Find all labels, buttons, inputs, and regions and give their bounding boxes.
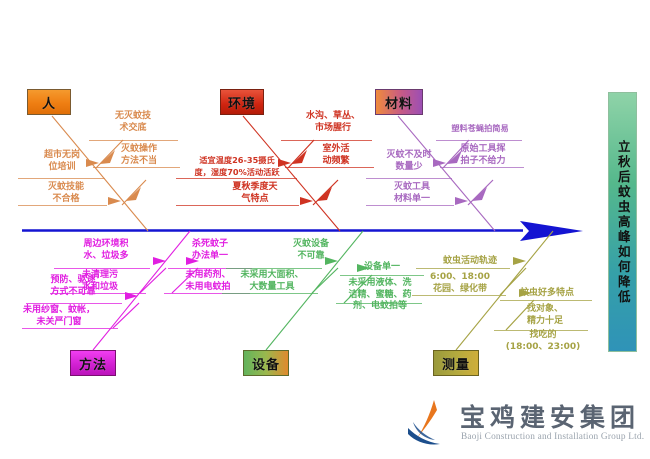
tip-people-2	[108, 197, 121, 205]
cause-measurement-3-detail-line1: 找吃的	[529, 330, 556, 340]
cause-equipment-1-detail-line1: 未采用大面积、	[240, 270, 303, 280]
cause-environment-1-detail: 室外活 动频繁	[296, 144, 376, 167]
cause-method-2-title-line2: 方式不可靠	[50, 287, 95, 297]
cause-people-2-title-line2: 位培训	[48, 162, 75, 172]
cause-equipment-2-title-line1: 设备单一	[364, 262, 400, 272]
cause-measurement-1-title: 蚊虫活动轨迹	[428, 256, 512, 268]
logo-swoosh-blue	[408, 428, 440, 445]
cause-environment-2-title-line2: 度，湿度70%活动活跃	[194, 167, 279, 177]
twig-people-2	[122, 180, 146, 205]
cause-environment-1-detail-line2: 动频繁	[322, 156, 349, 166]
cause-people-2-title-line1: 超市无岗	[44, 150, 80, 160]
spine-arrowhead	[520, 221, 583, 241]
cause-people-2-detail-line1: 灭蚊技能	[48, 182, 84, 192]
cause-material-2-detail-line2: 材料单一	[394, 194, 430, 204]
cause-method-1-title-line2: 水、垃圾多	[83, 251, 128, 261]
cause-measurement-1-title-line1: 蚊虫活动轨迹	[443, 256, 497, 266]
spine-group	[22, 221, 583, 241]
category-label-material: 材料	[385, 93, 413, 112]
cause-measurement-2-detail: 找对象、 精力十足	[502, 304, 588, 327]
cause-equipment-2-detail: 未采用液体、洗 洁精、蜜糖、药 剂、电蚊拍等	[336, 278, 424, 313]
tip-mea-1	[513, 257, 526, 265]
cause-material-2-title: 灭蚊不及时 数量少	[366, 150, 452, 173]
category-label-people: 人	[42, 93, 56, 112]
cause-method-2-detail: 未用纱窗、蚊帐， 未关严门窗	[2, 305, 116, 328]
cause-equipment-1-title-line1: 灭蚊设备	[293, 239, 329, 249]
cause-environment-2-detail: 夏秋季度天 气特点	[210, 182, 300, 205]
category-label-method: 方法	[79, 354, 107, 373]
cause-people-1-title-line1: 无灭蚊技	[115, 111, 151, 121]
cause-material-1-detail-line2: 拍子不给力	[460, 156, 505, 166]
category-box-environment[interactable]: 环境	[220, 89, 264, 115]
cause-material-1-detail: 原始工具挥 拍子不给力	[440, 144, 526, 167]
company-name-cn: 宝鸡建安集团	[460, 398, 640, 434]
cause-environment-2-detail-line2: 气特点	[241, 194, 268, 204]
category-box-measurement[interactable]: 测量	[433, 350, 479, 376]
cause-equipment-2-detail-line2: 洁精、蜜糖、药	[348, 290, 411, 300]
cause-material-2-title-line2: 数量少	[395, 162, 422, 172]
cause-people-1-detail-line2: 方法不当	[121, 156, 157, 166]
category-label-environment: 环境	[228, 93, 256, 112]
cause-environment-1-title-line1: 水沟、草丛、	[306, 111, 360, 121]
problem-statement-text: 立秋后蚊虫高峰如何降低	[616, 140, 629, 305]
cause-material-2-title-line1: 灭蚊不及时	[386, 150, 431, 160]
cause-people-2-detail: 灭蚊技能 不合格	[24, 182, 108, 205]
cause-environment-1-title-line2: 市场腥行	[315, 123, 351, 133]
fishbone-diagram-canvas: 人 环境 材料 方法 设备 测量 立秋后蚊虫高峰如何降低 无灭蚊技 术交底 灭蚊…	[0, 0, 650, 459]
cause-measurement-2-title: 蚊虫好多特点	[504, 288, 590, 300]
cause-method-3-title-line1: 杀死蚊子	[192, 239, 228, 249]
cause-measurement-1-detail-line1: 6:00、18:00	[430, 272, 490, 282]
cause-method-3-title-line2: 办法单一	[192, 251, 228, 261]
cause-method-2-title: 预防、驱逐 方式不可靠	[28, 275, 118, 298]
cause-measurement-2-title-line1: 蚊虫好多特点	[520, 288, 574, 298]
cause-measurement-3-detail-line2: (18:00、23:00)	[506, 342, 581, 352]
cause-environment-2-detail-line1: 夏秋季度天	[232, 182, 277, 192]
category-box-method[interactable]: 方法	[70, 350, 116, 376]
cause-environment-2-title-line1: 适宜温度26-35摄氏	[199, 155, 274, 165]
cause-measurement-2-detail-line1: 找对象、	[527, 304, 563, 314]
problem-statement-box[interactable]: 立秋后蚊虫高峰如何降低	[608, 92, 637, 352]
cause-equipment-1-detail-line2: 大数量工具	[249, 282, 294, 292]
cause-environment-2-title: 适宜温度26-35摄氏 度，湿度70%活动活跃	[176, 155, 298, 178]
cause-measurement-1-detail: 6:00、18:00 花园、绿化带	[414, 272, 506, 295]
category-box-material[interactable]: 材料	[375, 89, 423, 115]
tip-met-1	[153, 257, 166, 265]
cause-people-1-title: 无灭蚊技 术交底	[90, 111, 176, 134]
cause-measurement-2-detail-line2: 精力十足	[527, 316, 563, 326]
cause-equipment-1-detail: 未采用大面积、 大数量工具	[224, 270, 320, 293]
category-label-equipment: 设备	[252, 354, 280, 373]
cause-measurement-3-detail: 找吃的 (18:00、23:00)	[496, 330, 590, 353]
tip-mat-2	[455, 197, 468, 205]
cause-environment-1-detail-line1: 室外活	[322, 144, 349, 154]
cause-method-2-detail-line2: 未关严门窗	[36, 317, 81, 327]
cause-equipment-1-title: 灭蚊设备 不可靠	[272, 239, 350, 262]
cause-method-2-detail-line1: 未用纱窗、蚊帐，	[23, 305, 95, 315]
cause-equipment-2-detail-line3: 剂、电蚊拍等	[353, 301, 407, 311]
company-logo: 宝鸡建安集团 Baoji Construction and Installati…	[404, 396, 648, 454]
cause-people-2-title: 超市无岗 位培训	[20, 150, 104, 173]
cause-method-3-title: 杀死蚊子 办法单一	[170, 239, 250, 262]
cause-environment-1-title: 水沟、草丛、 市场腥行	[290, 111, 376, 134]
cause-material-1-title-line1: 塑料苍蝇拍简易	[451, 123, 508, 133]
cause-equipment-2-detail-line1: 未采用液体、洗	[348, 278, 411, 288]
twig-met-2	[113, 303, 139, 328]
category-box-equipment[interactable]: 设备	[243, 350, 289, 376]
cause-equipment-1-title-line2: 不可靠	[297, 251, 324, 261]
category-label-measurement: 测量	[442, 354, 470, 373]
category-box-people[interactable]: 人	[27, 89, 71, 115]
cause-people-1-title-line2: 术交底	[119, 123, 146, 133]
cause-people-1-detail: 灭蚊操作 方法不当	[96, 144, 182, 167]
cause-material-1-detail-line1: 原始工具挥	[460, 144, 505, 154]
logo-mark-icon	[404, 398, 454, 450]
cause-measurement-1-detail-line2: 花园、绿化带	[433, 284, 487, 294]
cause-method-1-title: 周边环境积 水、垃圾多	[62, 239, 150, 262]
cause-material-2-detail: 灭蚊工具 材料单一	[370, 182, 454, 205]
cause-method-2-title-line1: 预防、驱逐	[50, 275, 95, 285]
twig-env-2	[313, 180, 338, 205]
cause-material-2-detail-line1: 灭蚊工具	[394, 182, 430, 192]
cause-equipment-2-title: 设备单一	[340, 262, 424, 274]
cause-method-1-title-line1: 周边环境积	[83, 239, 128, 249]
twig-mat-2	[468, 180, 493, 205]
cause-people-1-detail-line1: 灭蚊操作	[121, 144, 157, 154]
company-name-en: Baoji Construction and Installation Grou…	[461, 432, 644, 442]
tip-env-2	[300, 197, 313, 205]
diagram-lines-layer	[0, 0, 650, 459]
cause-material-1-title: 塑料苍蝇拍简易	[436, 123, 524, 135]
cause-people-2-detail-line2: 不合格	[52, 194, 79, 204]
